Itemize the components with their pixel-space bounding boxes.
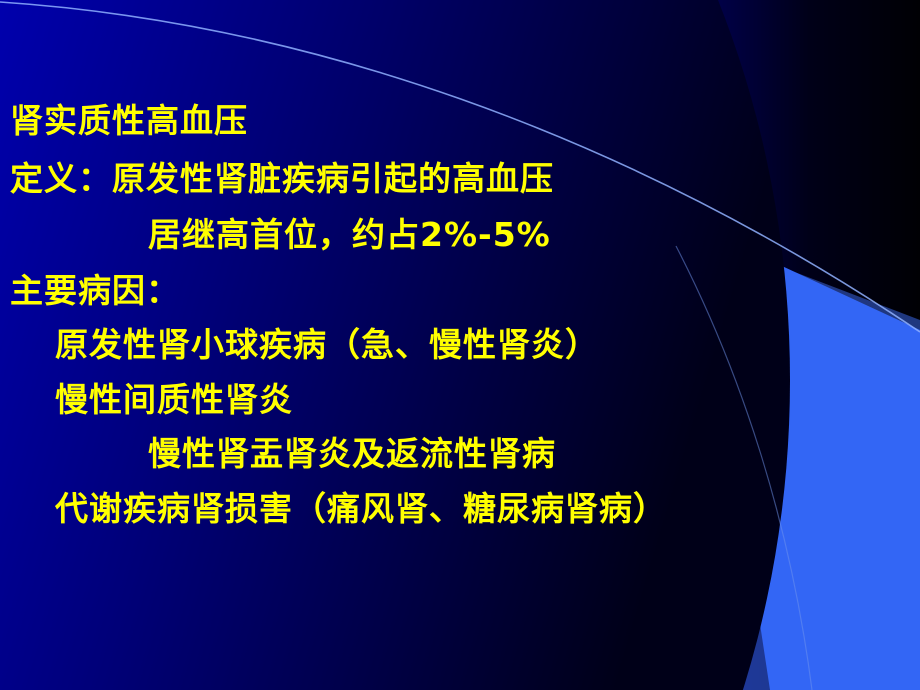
slide-text-content: 肾实质性高血压 定义：原发性肾脏疾病引起的高血压 居继高首位，约占2%-5% 主…	[0, 0, 920, 690]
cause-item-4: 代谢疾病肾损害（痛风肾、糖尿病肾病）	[55, 492, 667, 525]
presentation-slide: 肾实质性高血压 定义：原发性肾脏疾病引起的高血压 居继高首位，约占2%-5% 主…	[0, 0, 920, 690]
cause-item-2: 慢性间质性肾炎	[55, 383, 293, 416]
main-causes-heading: 主要病因：	[10, 274, 180, 307]
cause-item-1: 原发性肾小球疾病（急、慢性肾炎）	[55, 328, 599, 361]
cause-item-3: 慢性肾盂肾炎及返流性肾病	[148, 437, 556, 470]
definition-line: 定义：原发性肾脏疾病引起的高血压	[10, 162, 554, 195]
definition-continued-line: 居继高首位，约占2%-5%	[148, 218, 551, 251]
slide-title: 肾实质性高血压	[10, 104, 248, 137]
